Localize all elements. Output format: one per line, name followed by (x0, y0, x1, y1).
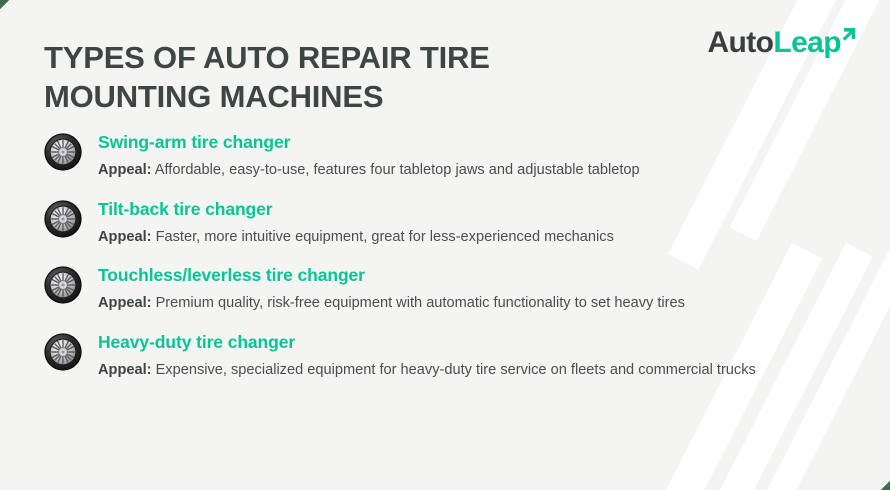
list-item: Heavy-duty tire changer Appeal: Expensiv… (44, 331, 844, 381)
item-title: Swing-arm tire changer (98, 131, 844, 153)
item-description: Appeal: Expensive, specialized equipment… (98, 360, 828, 381)
tire-wheel-icon (44, 333, 82, 371)
appeal-text: Expensive, specialized equipment for hea… (152, 362, 756, 378)
item-title: Tilt-back tire changer (98, 198, 844, 220)
list-item: Touchless/leverless tire changer Appeal:… (44, 264, 844, 314)
tire-wheel-icon (44, 266, 82, 304)
list-item: Tilt-back tire changer Appeal: Faster, m… (44, 198, 844, 248)
item-title: Touchless/leverless tire changer (98, 264, 844, 286)
logo-text-leap: Leap (773, 26, 841, 59)
list-item: Swing-arm tire changer Appeal: Affordabl… (44, 131, 844, 181)
appeal-text: Premium quality, risk-free equipment wit… (152, 295, 685, 311)
autoleap-logo[interactable]: AutoLeap (707, 26, 856, 60)
item-description: Appeal: Faster, more intuitive equipment… (98, 227, 828, 248)
appeal-label: Appeal: (98, 229, 152, 245)
item-description: Appeal: Affordable, easy-to-use, feature… (98, 160, 828, 181)
logo-text-auto: Auto (707, 26, 773, 59)
corner-accent-bottom-right (881, 481, 890, 490)
item-title: Heavy-duty tire changer (98, 331, 844, 353)
arrow-up-right-icon (842, 27, 856, 43)
tire-wheel-icon (44, 200, 82, 238)
appeal-label: Appeal: (98, 362, 152, 378)
page-title: TYPES OF AUTO REPAIR TIRE MOUNTING MACHI… (44, 38, 644, 116)
infographic-canvas: TYPES OF AUTO REPAIR TIRE MOUNTING MACHI… (0, 0, 890, 490)
corner-accent-top-left (0, 0, 9, 9)
appeal-label: Appeal: (98, 295, 152, 311)
appeal-label: Appeal: (98, 162, 152, 178)
appeal-text: Affordable, easy-to-use, features four t… (152, 162, 640, 178)
appeal-text: Faster, more intuitive equipment, great … (152, 229, 614, 245)
item-description: Appeal: Premium quality, risk-free equip… (98, 293, 828, 314)
tire-machine-list: Swing-arm tire changer Appeal: Affordabl… (44, 131, 844, 380)
tire-wheel-icon (44, 133, 82, 171)
